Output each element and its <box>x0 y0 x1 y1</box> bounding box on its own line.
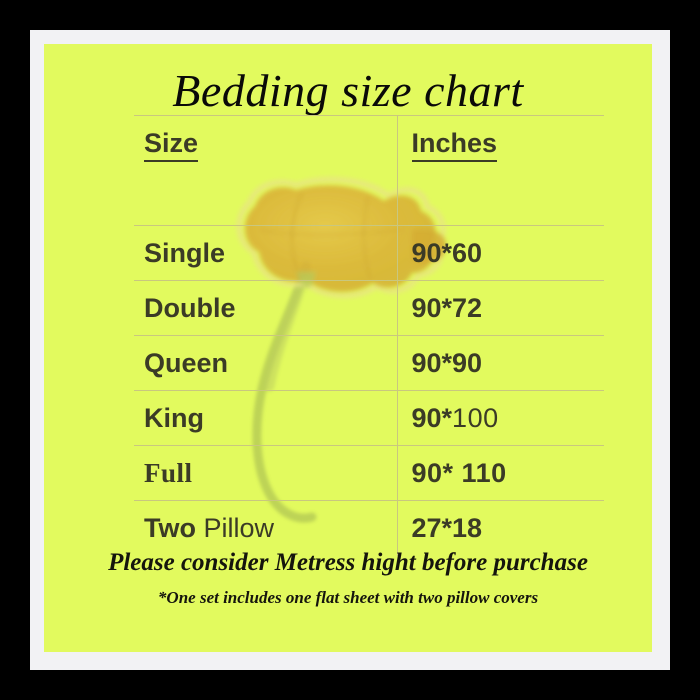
row-size-two-pillow: Two Pillow <box>134 501 397 556</box>
table-row: King 90*100 <box>134 391 604 446</box>
screenshot-root: Bedding size chart Size Inches <box>0 0 700 700</box>
table-body: Single 90*60 Double 90*72 Queen 90*90 Ki… <box>134 174 604 556</box>
bedding-size-chart-card: Bedding size chart Size Inches <box>44 44 652 652</box>
row-inches-full: 90* 110 <box>397 446 604 501</box>
row-inches-two-pillow: 27*18 <box>397 501 604 556</box>
spacer-cell-size <box>134 174 397 226</box>
row-inches-king-suffix: 100 <box>452 403 499 433</box>
row-size-king: King <box>134 391 397 446</box>
row-inches-queen: 90*90 <box>397 336 604 391</box>
table-row: Two Pillow 27*18 <box>134 501 604 556</box>
row-size-queen: Queen <box>134 336 397 391</box>
row-size-single: Single <box>134 226 397 281</box>
table-row: Single 90*60 <box>134 226 604 281</box>
footer-note-primary: Please consider Metress hight before pur… <box>44 549 652 577</box>
spacer-cell-inches <box>397 174 604 226</box>
row-inches-single: 90*60 <box>397 226 604 281</box>
row-inches-king-prefix: 90* <box>412 403 453 433</box>
row-inches-double: 90*72 <box>397 281 604 336</box>
column-header-size-label: Size <box>144 129 198 162</box>
table-header: Size Inches <box>134 116 604 174</box>
bedding-size-table: Size Inches Single 90*60 Double <box>134 115 604 556</box>
row-size-two-pillow-strong: Two <box>144 513 196 543</box>
table-row: Full 90* 110 <box>134 446 604 501</box>
page-title: Bedding size chart <box>44 64 652 117</box>
table-row: Queen 90*90 <box>134 336 604 391</box>
footer-note-secondary: *One set includes one flat sheet with tw… <box>44 588 652 608</box>
column-header-inches-label: Inches <box>412 129 498 162</box>
row-size-two-pillow-weak: Pillow <box>204 513 275 543</box>
table-spacer-row <box>134 174 604 226</box>
row-inches-king: 90*100 <box>397 391 604 446</box>
column-header-inches: Inches <box>397 116 604 174</box>
table-row: Double 90*72 <box>134 281 604 336</box>
column-header-size: Size <box>134 116 397 174</box>
row-size-full: Full <box>134 446 397 501</box>
row-size-double: Double <box>134 281 397 336</box>
table-header-row: Size Inches <box>134 116 604 174</box>
